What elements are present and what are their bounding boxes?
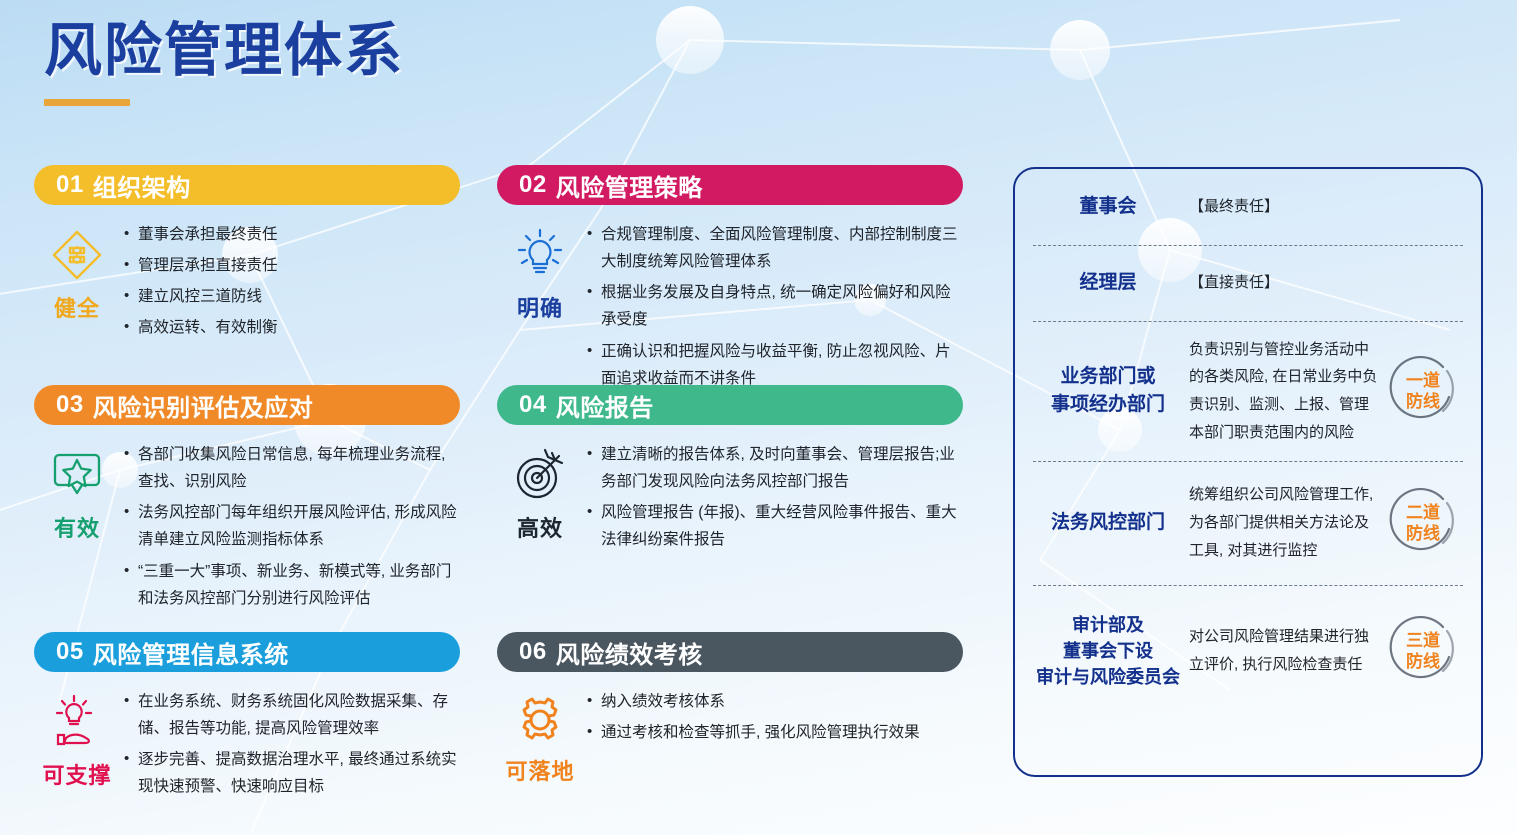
panel-row-desc: 【直接责任】 <box>1183 269 1383 297</box>
section-icon-column-02: 明确 <box>497 221 583 396</box>
section-keyword-02: 明确 <box>517 291 563 323</box>
panel-row-desc: 对公司风险管理结果进行独立评价, 执行风险检查责任 <box>1183 623 1383 679</box>
bullet-dot: • <box>124 314 138 341</box>
section-card-03[interactable]: 03 风险识别评估及应对 有效 •各部门收集风险日常信息, 每年梳理业务流程, … <box>34 385 460 616</box>
three-lines-of-defence-panel: 董事会 【最终责任】 经理层 【直接责任】 业务部门或 事项经办部门 负责识别与… <box>1013 167 1483 777</box>
bullet-dot: • <box>124 746 138 800</box>
section-number-06: 06 <box>519 638 547 666</box>
panel-row-second-line[interactable]: 法务风控部门 统筹组织公司风险管理工作, 为各部门提供相关方法论及工具, 对其进… <box>1015 461 1481 585</box>
section-banner-03[interactable]: 03 风险识别评估及应对 <box>34 385 460 425</box>
bullet-text: 通过考核和检查等抓手, 强化风险管理执行效果 <box>601 719 963 746</box>
bulb-hand-icon <box>48 694 106 750</box>
section-banner-06[interactable]: 06 风险绩效考核 <box>497 632 963 672</box>
title-underline-rule <box>44 99 130 106</box>
section-icon-column-05: 可支撑 <box>34 688 120 805</box>
section-bullets-05: •在业务系统、财务系统固化风险数据采集、存储、报告等功能, 提高风险管理效率 •… <box>120 688 460 805</box>
section-card-06[interactable]: 06 风险绩效考核 可落地 •纳入绩效考核体系 •通过考核和检查等抓手, 强化风… <box>497 632 963 786</box>
bullet-item: •建立清晰的报告体系, 及时向董事会、管理层报告;业务部门发现风险向法务风控部门… <box>587 441 963 495</box>
bullet-text: 建立风控三道防线 <box>138 283 460 310</box>
section-number-02: 02 <box>519 171 547 199</box>
bullet-dot: • <box>124 558 138 612</box>
section-icon-column-06: 可落地 <box>497 688 583 786</box>
bullet-dot: • <box>124 221 138 248</box>
section-number-01: 01 <box>56 171 84 199</box>
bullet-dot: • <box>587 279 601 333</box>
defence-ring-2: 二道 防线 <box>1383 485 1463 561</box>
bullet-item: •建立风控三道防线 <box>124 283 460 310</box>
bullet-text: 根据业务发展及自身特点, 统一确定风险偏好和风险承受度 <box>601 279 963 333</box>
bullet-text: 在业务系统、财务系统固化风险数据采集、存储、报告等功能, 提高风险管理效率 <box>138 688 460 742</box>
bullet-dot: • <box>124 441 138 495</box>
panel-row-label: 经理层 <box>1033 269 1183 297</box>
bullet-item: •管理层承担直接责任 <box>124 252 460 279</box>
bullet-text: 董事会承担最终责任 <box>138 221 460 248</box>
panel-row-desc: 统筹组织公司风险管理工作, 为各部门提供相关方法论及工具, 对其进行监控 <box>1183 481 1383 564</box>
section-banner-04[interactable]: 04 风险报告 <box>497 385 963 425</box>
section-bullets-03: •各部门收集风险日常信息, 每年梳理业务流程, 查找、识别风险 •法务风控部门每… <box>120 441 460 616</box>
bullet-item: •董事会承担最终责任 <box>124 221 460 248</box>
section-title-05: 风险管理信息系统 <box>93 635 289 670</box>
bullet-text: 管理层承担直接责任 <box>138 252 460 279</box>
bullet-dot: • <box>124 688 138 742</box>
bullet-item: •正确认识和把握风险与收益平衡, 防止忽视风险、片面追求收益而不讲条件 <box>587 338 963 392</box>
puzzle-diamond-icon <box>49 227 105 283</box>
bullet-text: 风险管理报告 (年报)、重大经营风险事件报告、重大法律纠纷案件报告 <box>601 499 963 553</box>
bullet-dot: • <box>124 499 138 553</box>
defence-ring-3: 三道 防线 <box>1383 613 1463 689</box>
bullet-item: •各部门收集风险日常信息, 每年梳理业务流程, 查找、识别风险 <box>124 441 460 495</box>
defence-ring-label: 二道 防线 <box>1383 502 1463 545</box>
target-icon <box>512 447 568 503</box>
section-card-02[interactable]: 02 风险管理策略 明确 •合规管理制度、全面风险管理制度、内部控制制度三大制度… <box>497 165 963 396</box>
bullet-text: 正确认识和把握风险与收益平衡, 防止忽视风险、片面追求收益而不讲条件 <box>601 338 963 392</box>
section-title-04: 风险报告 <box>556 388 654 423</box>
section-bullets-04: •建立清晰的报告体系, 及时向董事会、管理层报告;业务部门发现风险向法务风控部门… <box>583 441 963 558</box>
lightbulb-icon <box>513 227 567 283</box>
section-number-05: 05 <box>56 638 84 666</box>
bullet-dot: • <box>587 338 601 392</box>
bullet-item: •逐步完善、提高数据治理水平, 最终通过系统实现快速预警、快速响应目标 <box>124 746 460 800</box>
bullet-text: 法务风控部门每年组织开展风险评估, 形成风险清单建立风险监测指标体系 <box>138 499 460 553</box>
bullet-dot: • <box>124 283 138 310</box>
panel-row-label: 董事会 <box>1033 193 1183 221</box>
section-title-01: 组织架构 <box>93 168 191 203</box>
panel-row-label: 法务风控部门 <box>1033 509 1183 537</box>
section-bullets-02: •合规管理制度、全面风险管理制度、内部控制制度三大制度统筹风险管理体系 •根据业… <box>583 221 963 396</box>
page-header: 风险管理体系 <box>44 18 404 106</box>
gear-icon <box>512 694 568 746</box>
section-keyword-04: 高效 <box>517 511 563 543</box>
bullet-dot: • <box>587 441 601 495</box>
page-title: 风险管理体系 <box>44 18 404 85</box>
bullet-dot: • <box>587 719 601 746</box>
panel-row-board[interactable]: 董事会 【最终责任】 <box>1015 169 1481 245</box>
defence-ring-label: 一道 防线 <box>1383 370 1463 413</box>
bullet-dot: • <box>587 688 601 715</box>
bullet-text: 高效运转、有效制衡 <box>138 314 460 341</box>
panel-row-first-line[interactable]: 业务部门或 事项经办部门 负责识别与管控业务活动中的各类风险, 在日常业务中负责… <box>1015 321 1481 461</box>
section-keyword-03: 有效 <box>54 511 100 543</box>
bullet-text: 逐步完善、提高数据治理水平, 最终通过系统实现快速预警、快速响应目标 <box>138 746 460 800</box>
bullet-item: •纳入绩效考核体系 <box>587 688 963 715</box>
bullet-item: •在业务系统、财务系统固化风险数据采集、存储、报告等功能, 提高风险管理效率 <box>124 688 460 742</box>
bullet-item: •通过考核和检查等抓手, 强化风险管理执行效果 <box>587 719 963 746</box>
section-keyword-05: 可支撑 <box>42 758 111 790</box>
bullet-item: •风险管理报告 (年报)、重大经营风险事件报告、重大法律纠纷案件报告 <box>587 499 963 553</box>
section-number-03: 03 <box>56 391 84 419</box>
section-bullets-01: •董事会承担最终责任 •管理层承担直接责任 •建立风控三道防线 •高效运转、有效… <box>120 221 460 346</box>
panel-row-third-line[interactable]: 审计部及 董事会下设 审计与风险委员会 对公司风险管理结果进行独立评价, 执行风… <box>1015 585 1481 717</box>
section-keyword-06: 可落地 <box>505 754 574 786</box>
bullet-dot: • <box>124 252 138 279</box>
panel-row-desc: 【最终责任】 <box>1183 193 1383 221</box>
bullet-text: 各部门收集风险日常信息, 每年梳理业务流程, 查找、识别风险 <box>138 441 460 495</box>
panel-row-desc: 负责识别与管控业务活动中的各类风险, 在日常业务中负责识别、监测、上报、管理本部… <box>1183 336 1383 447</box>
bullet-dot: • <box>587 499 601 553</box>
section-banner-01[interactable]: 01 组织架构 <box>34 165 460 205</box>
section-card-01[interactable]: 01 组织架构 健全 •董事会承担最终责任 •管理层承担直接责任 •建立风控三道… <box>34 165 460 346</box>
bullet-item: •高效运转、有效制衡 <box>124 314 460 341</box>
section-icon-column-01: 健全 <box>34 221 120 346</box>
bullet-item: •合规管理制度、全面风险管理制度、内部控制制度三大制度统筹风险管理体系 <box>587 221 963 275</box>
panel-row-management[interactable]: 经理层 【直接责任】 <box>1015 245 1481 321</box>
bullet-item: •根据业务发展及自身特点, 统一确定风险偏好和风险承受度 <box>587 279 963 333</box>
section-icon-column-04: 高效 <box>497 441 583 558</box>
bullet-item: •“三重一大”事项、新业务、新模式等, 业务部门和法务风控部门分别进行风险评估 <box>124 558 460 612</box>
panel-row-label: 业务部门或 事项经办部门 <box>1033 363 1183 418</box>
panel-row-label: 审计部及 董事会下设 审计与风险委员会 <box>1033 612 1183 690</box>
section-card-04[interactable]: 04 风险报告 高效 •建立清晰的报告体系, 及时向董事会、管理层报告;业务部门… <box>497 385 963 558</box>
section-icon-column-03: 有效 <box>34 441 120 616</box>
bullet-text: 建立清晰的报告体系, 及时向董事会、管理层报告;业务部门发现风险向法务风控部门报… <box>601 441 963 495</box>
section-title-06: 风险绩效考核 <box>556 635 703 670</box>
bullet-text: “三重一大”事项、新业务、新模式等, 业务部门和法务风控部门分别进行风险评估 <box>138 558 460 612</box>
defence-ring-label: 三道 防线 <box>1383 630 1463 673</box>
bullet-text: 纳入绩效考核体系 <box>601 688 963 715</box>
defence-ring-1: 一道 防线 <box>1383 353 1463 429</box>
bullet-text: 合规管理制度、全面风险管理制度、内部控制制度三大制度统筹风险管理体系 <box>601 221 963 275</box>
section-bullets-06: •纳入绩效考核体系 •通过考核和检查等抓手, 强化风险管理执行效果 <box>583 688 963 786</box>
bullet-item: •法务风控部门每年组织开展风险评估, 形成风险清单建立风险监测指标体系 <box>124 499 460 553</box>
section-keyword-01: 健全 <box>54 291 100 323</box>
section-card-05[interactable]: 05 风险管理信息系统 可支撑 •在业务系统、财务系统固化风险数据采集、存储、报… <box>34 632 460 805</box>
section-title-03: 风险识别评估及应对 <box>93 388 314 423</box>
section-number-04: 04 <box>519 391 547 419</box>
section-title-02: 风险管理策略 <box>556 168 703 203</box>
section-banner-02[interactable]: 02 风险管理策略 <box>497 165 963 205</box>
star-bubble-icon <box>49 447 105 503</box>
bullet-dot: • <box>587 221 601 275</box>
section-banner-05[interactable]: 05 风险管理信息系统 <box>34 632 460 672</box>
